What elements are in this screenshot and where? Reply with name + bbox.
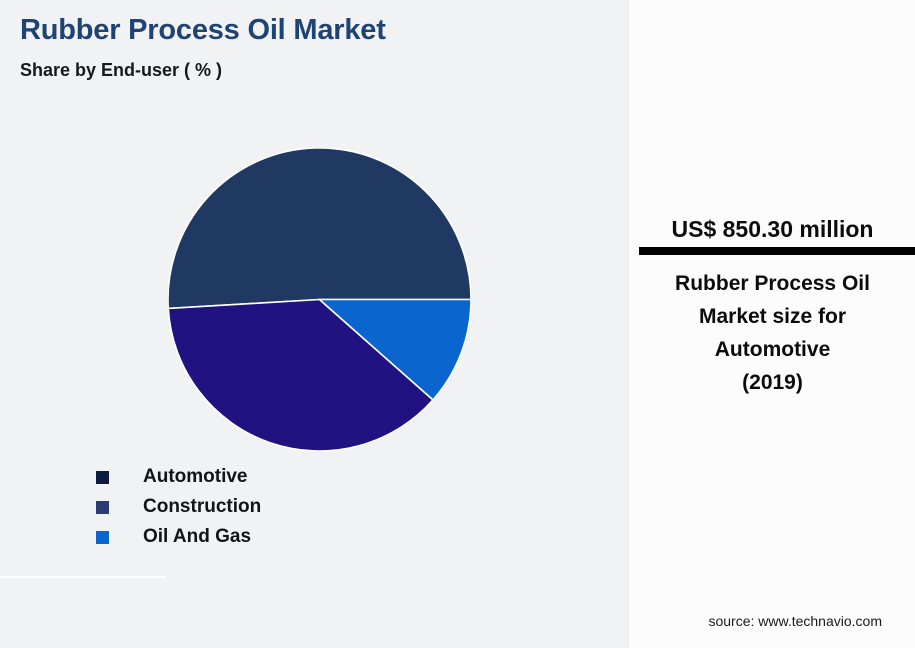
chart-panel: Rubber Process Oil Market Share by End-u… bbox=[0, 0, 626, 648]
pie-slice-automotive[interactable] bbox=[168, 148, 471, 308]
page-title: Rubber Process Oil Market bbox=[20, 14, 386, 47]
kpi-caption-line: Market size for bbox=[641, 300, 904, 333]
kpi-caption-line: (2019) bbox=[641, 366, 904, 399]
kpi-caption-line: Automotive bbox=[641, 333, 904, 366]
kpi-caption: Rubber Process Oil Market size for Autom… bbox=[641, 267, 904, 399]
legend-item-oil-and-gas[interactable]: Oil And Gas bbox=[96, 522, 261, 552]
kpi-caption-line: Rubber Process Oil bbox=[641, 267, 904, 300]
chart-canvas: Rubber Process Oil Market Share by End-u… bbox=[0, 0, 915, 648]
pie-chart bbox=[168, 148, 471, 451]
legend-item-label: Automotive bbox=[143, 466, 248, 488]
chart-legend: Automotive Construction Oil And Gas bbox=[96, 462, 261, 552]
legend-item-automotive[interactable]: Automotive bbox=[96, 462, 261, 492]
pie-chart-svg bbox=[168, 148, 471, 451]
kpi-panel: US$ 850.30 million Rubber Process Oil Ma… bbox=[628, 0, 915, 648]
kpi-divider bbox=[639, 247, 915, 255]
source-note: source: www.technavio.com bbox=[708, 613, 882, 629]
chart-subtitle: Share by End-user ( % ) bbox=[20, 60, 222, 81]
legend-swatch-icon bbox=[96, 531, 109, 544]
footer-divider bbox=[0, 576, 166, 578]
legend-item-label: Oil And Gas bbox=[143, 526, 251, 548]
legend-item-label: Construction bbox=[143, 496, 261, 518]
legend-item-construction[interactable]: Construction bbox=[96, 492, 261, 522]
legend-swatch-icon bbox=[96, 471, 109, 484]
kpi-value: US$ 850.30 million bbox=[629, 216, 915, 243]
legend-swatch-icon bbox=[96, 501, 109, 514]
